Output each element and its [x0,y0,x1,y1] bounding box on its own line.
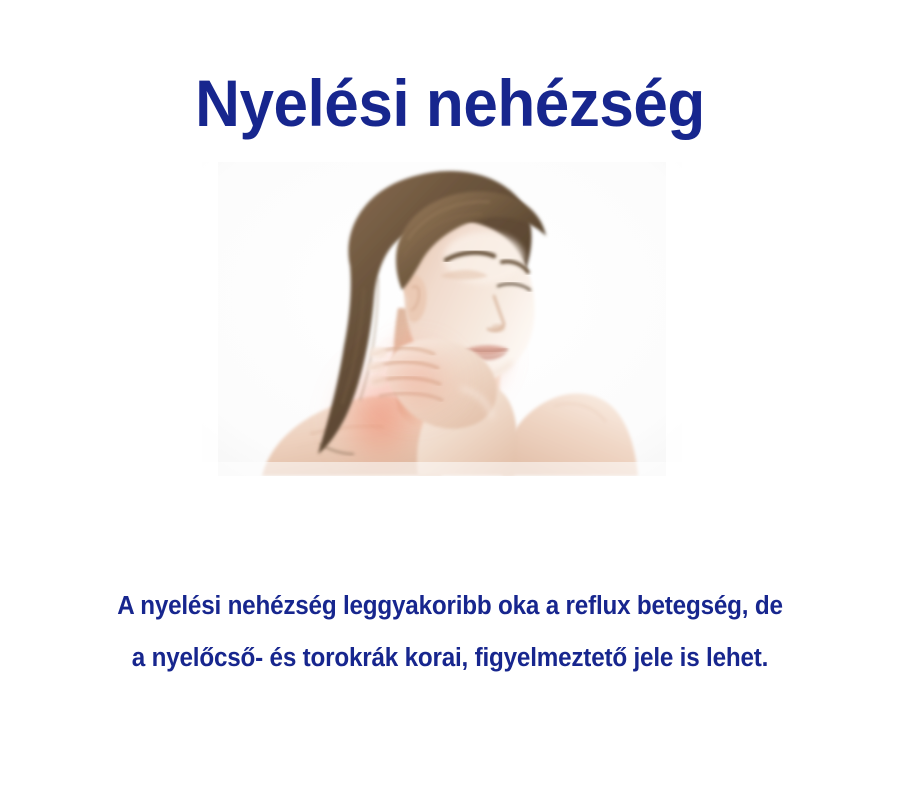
pain-glow-hand [362,332,470,428]
page-title: Nyelési nehézség [27,64,873,142]
throat-pain-illustration [202,148,682,476]
caption-line-2: a nyelőcső- és torokrák korai, figyelmez… [23,632,878,684]
throat-pain-photo [202,148,682,476]
caption-line-1: A nyelési nehézség leggyakoribb oka a re… [23,580,878,632]
caption-block: A nyelési nehézség leggyakoribb oka a re… [0,580,900,684]
poster-page: Nyelési nehézség [0,0,900,800]
